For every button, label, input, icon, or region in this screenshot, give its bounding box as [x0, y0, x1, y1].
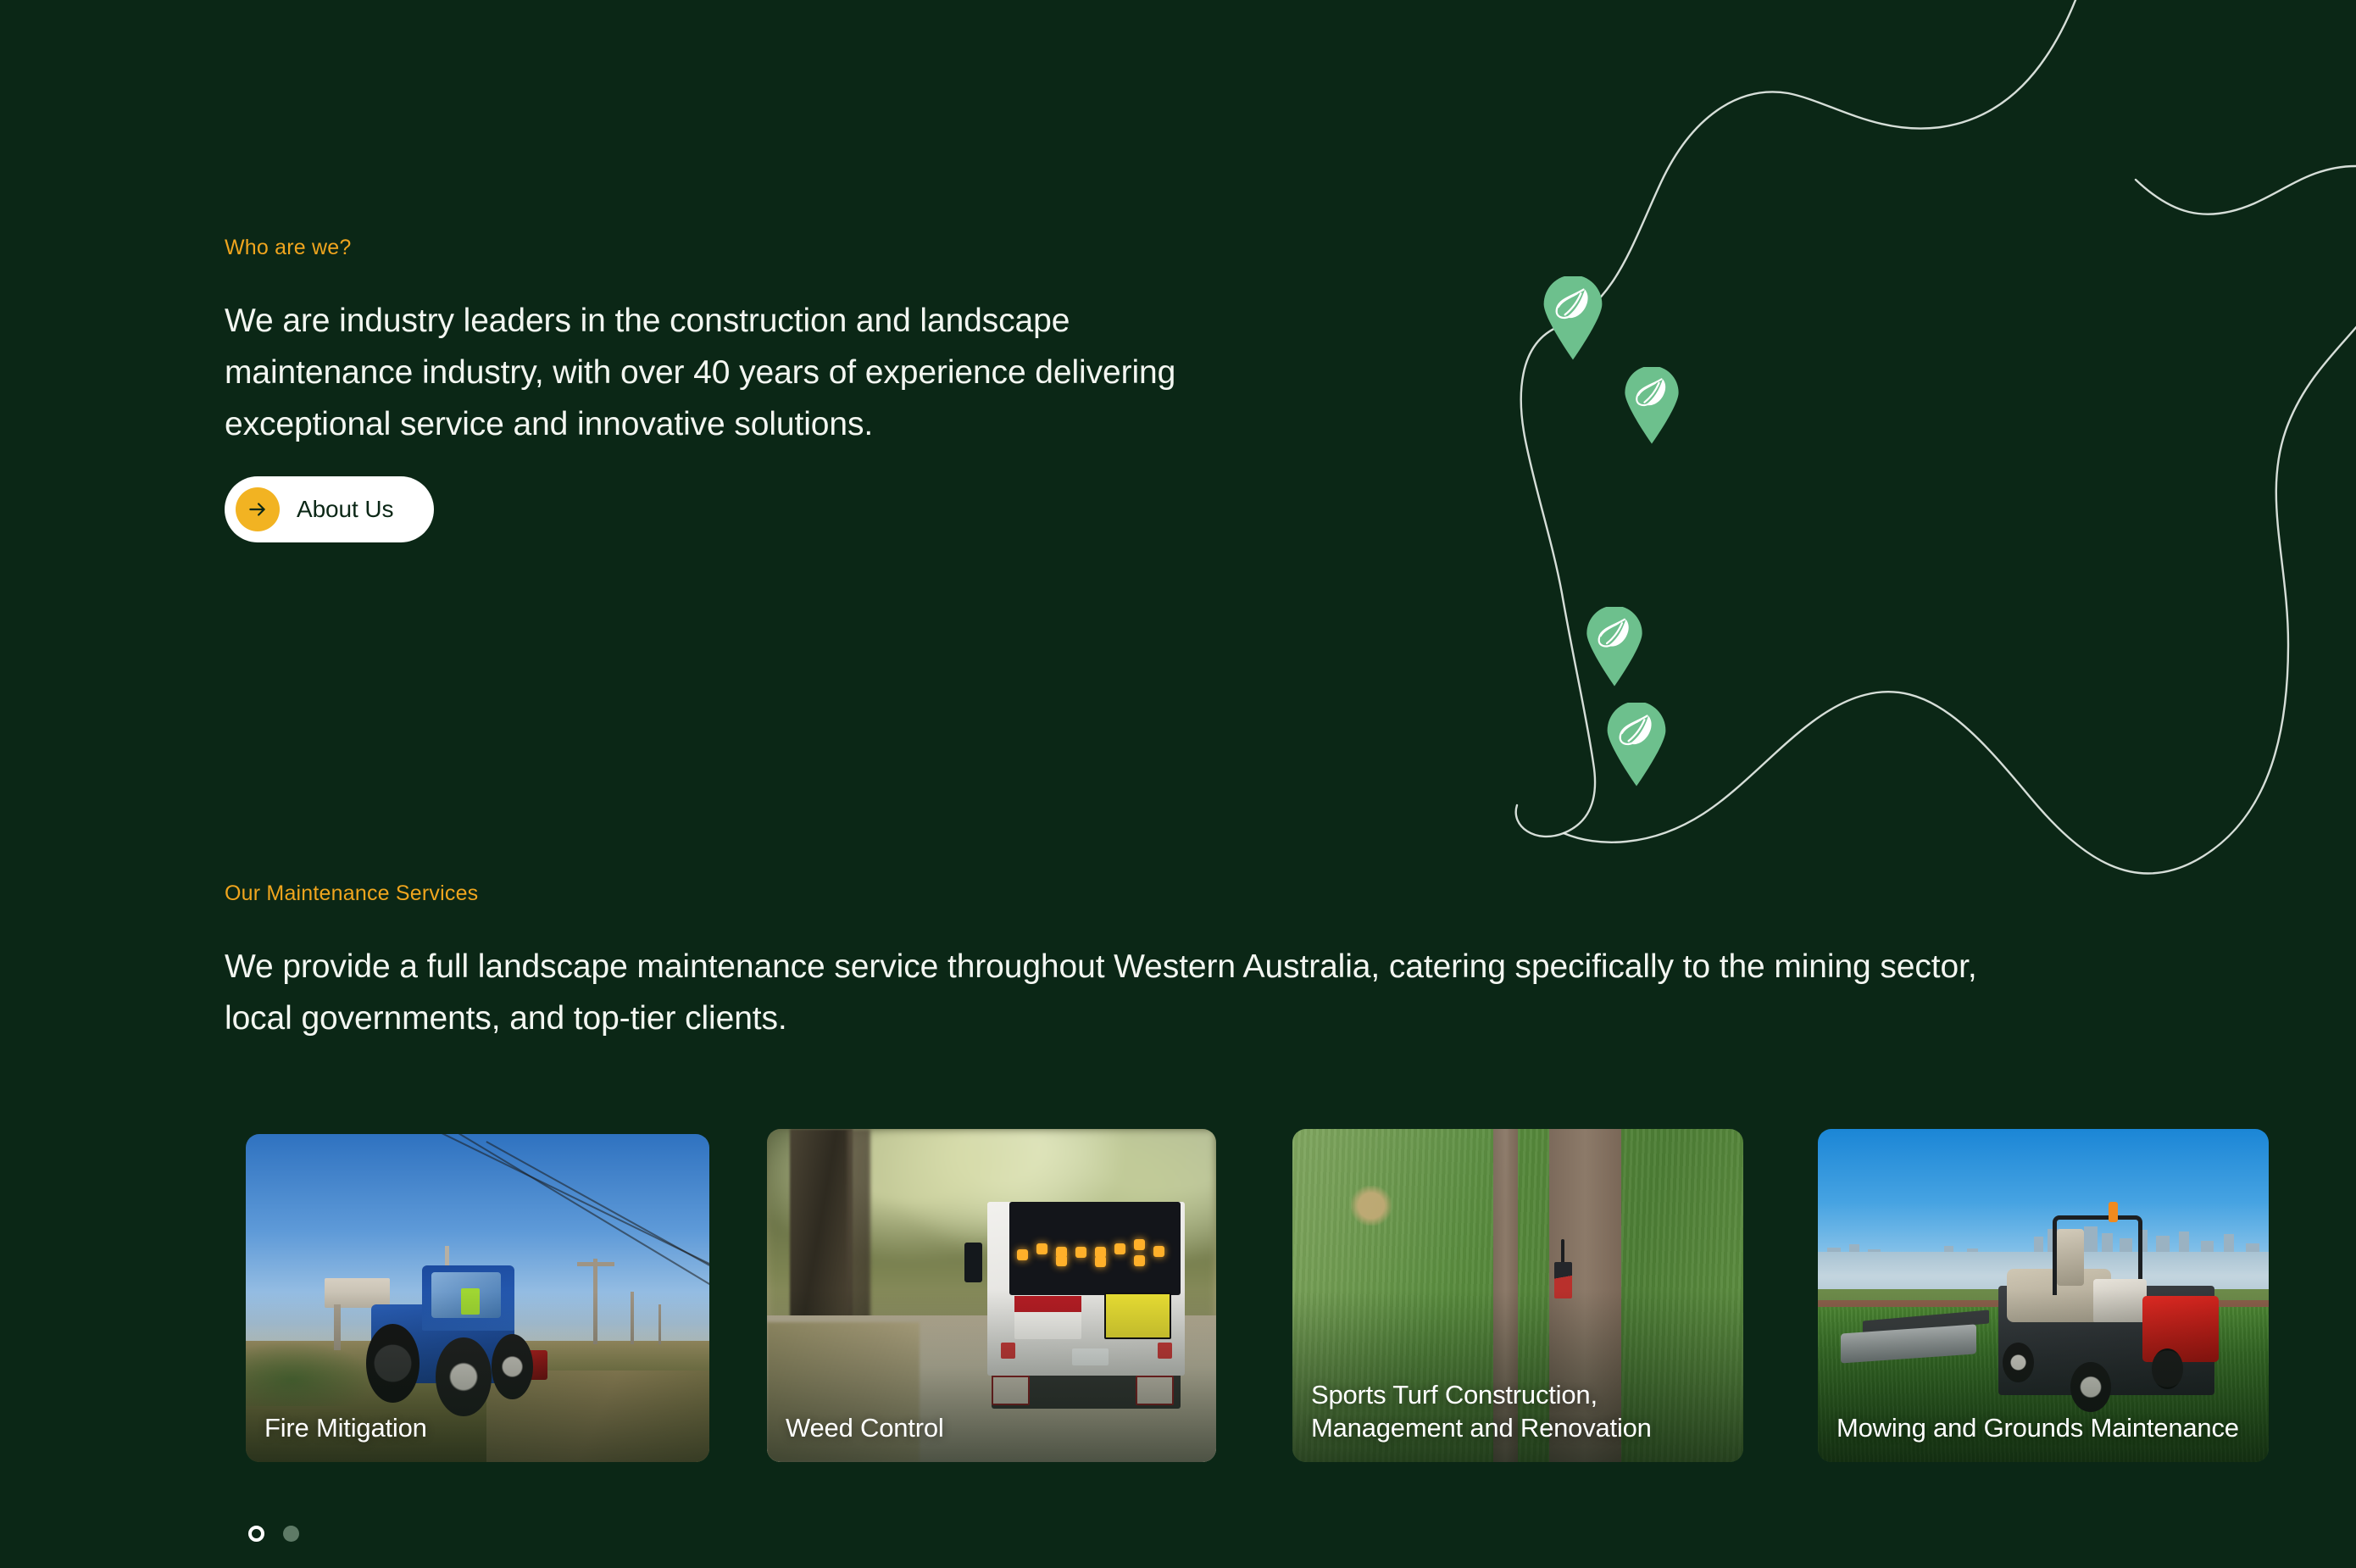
arrow-right-icon — [236, 487, 280, 531]
service-card-label: Mowing and Grounds Maintenance — [1836, 1411, 2250, 1445]
service-card-weed-control[interactable]: Weed Control — [767, 1129, 1216, 1462]
map-pin-1[interactable] — [1541, 276, 1605, 365]
map-pin-4[interactable] — [1604, 703, 1669, 792]
about-body-text: We are industry leaders in the construct… — [225, 296, 1225, 450]
service-card-mowing-grounds[interactable]: Mowing and Grounds Maintenance — [1818, 1129, 2269, 1462]
leaf-logo-icon — [1541, 276, 1605, 361]
services-body-text: We provide a full landscape maintenance … — [225, 942, 2030, 1045]
leaf-logo-icon — [1622, 367, 1681, 445]
service-card-sports-turf[interactable]: Sports Turf Construction, Management and… — [1292, 1129, 1743, 1462]
services-section: Our Maintenance Services We provide a fu… — [225, 881, 2259, 1045]
map-pin-2[interactable] — [1622, 367, 1681, 449]
service-card-label: Fire Mitigation — [264, 1411, 691, 1445]
services-eyebrow: Our Maintenance Services — [225, 881, 2259, 906]
leaf-logo-icon — [1604, 703, 1669, 787]
carousel-dot-2[interactable] — [283, 1526, 299, 1542]
carousel-dot-1[interactable] — [248, 1526, 264, 1542]
service-card-label: Weed Control — [786, 1411, 1197, 1445]
about-eyebrow: Who are we? — [225, 236, 1242, 260]
map-pin-3[interactable] — [1584, 607, 1645, 692]
about-us-button[interactable]: About Us — [225, 476, 434, 542]
service-card-label: Sports Turf Construction, Management and… — [1311, 1378, 1725, 1445]
about-us-button-label: About Us — [297, 496, 393, 523]
leaf-logo-icon — [1584, 607, 1645, 687]
services-carousel[interactable]: Fire Mitigation — [0, 1129, 2356, 1468]
about-section: Who are we? We are industry leaders in t… — [225, 236, 1242, 450]
service-card-fire-mitigation[interactable]: Fire Mitigation — [246, 1134, 709, 1462]
carousel-dots[interactable] — [248, 1526, 299, 1542]
